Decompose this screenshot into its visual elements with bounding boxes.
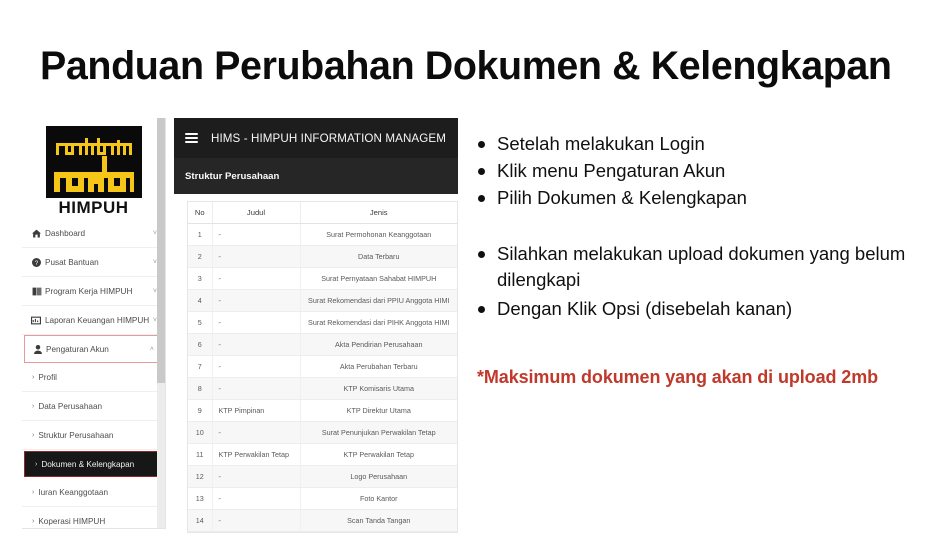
cell-judul: - (212, 466, 300, 488)
sidebar-subitem-label: Struktur Perusahaan (38, 431, 113, 440)
book-icon (31, 287, 42, 296)
cell-no: 2 (188, 246, 212, 268)
sidebar-subitem-iuran-keanggotaan[interactable]: › Iuran Keanggotaan (22, 478, 165, 507)
table-row[interactable]: 8-KTP Komisaris Utama (188, 378, 457, 400)
page-heading-bar: Struktur Perusahaan (174, 158, 458, 194)
documents-table: No Judul Jenis 1-Surat Permohonan Keangg… (188, 202, 457, 532)
cell-no: 5 (188, 312, 212, 334)
sidebar-subitem-struktur-perusahaan[interactable]: › Struktur Perusahaan (22, 421, 165, 450)
cell-jenis: KTP Komisaris Utama (300, 378, 457, 400)
cell-no: 9 (188, 400, 212, 422)
himpuh-calligraphy-icon (46, 126, 142, 198)
instructions-list-2: Silahkan melakukan upload dokumen yang b… (472, 241, 934, 322)
sidebar: HIMPUH Dashboard ˅ ? Pusat Bantuan ˅ (22, 118, 166, 529)
cell-judul: - (212, 510, 300, 532)
cell-no: 12 (188, 466, 212, 488)
sidebar-item-label: Laporan Keuangan HIMPUH (45, 316, 149, 325)
table-row[interactable]: 3-Surat Pernyataan Sahabat HIMPUH (188, 268, 457, 290)
page-heading: Struktur Perusahaan (185, 171, 279, 182)
chevron-right-icon: › (32, 518, 34, 525)
sidebar-item-label: Program Kerja HIMPUH (45, 287, 149, 296)
report-icon (31, 316, 42, 325)
documents-card: No Judul Jenis 1-Surat Permohonan Keangg… (187, 201, 458, 533)
slide-canvas: Panduan Perubahan Dokumen & Kelengkapan (0, 0, 949, 549)
cell-no: 1 (188, 224, 212, 246)
sidebar-scrollbar[interactable] (157, 118, 165, 529)
question-circle-icon: ? (31, 258, 42, 267)
cell-no: 4 (188, 290, 212, 312)
cell-no: 3 (188, 268, 212, 290)
cell-jenis: Surat Permohonan Keanggotaan (300, 224, 457, 246)
column-header-jenis[interactable]: Jenis (300, 202, 457, 224)
sidebar-item-label: Dashboard (45, 229, 149, 238)
cell-jenis: Surat Penunjukan Perwakilan Tetap (300, 422, 457, 444)
cell-judul: - (212, 268, 300, 290)
cell-jenis: Logo Perusahaan (300, 466, 457, 488)
cell-jenis: KTP Direktur Utama (300, 400, 457, 422)
cell-judul: - (212, 378, 300, 400)
app-topbar: HIMS - HIMPUH INFORMATION MANAGEM (174, 118, 458, 158)
brand-logo: HIMPUH (46, 126, 142, 217)
cell-judul: - (212, 312, 300, 334)
table-row[interactable]: 12-Logo Perusahaan (188, 466, 457, 488)
app-screenshot: HIMPUH Dashboard ˅ ? Pusat Bantuan ˅ (22, 118, 458, 549)
cell-jenis: Akta Perubahan Terbaru (300, 356, 457, 378)
chevron-right-icon: › (32, 374, 34, 381)
cell-jenis: KTP Perwakilan Tetap (300, 444, 457, 466)
sidebar-item-program-kerja[interactable]: Program Kerja HIMPUH ˅ (22, 277, 165, 306)
cell-jenis: Foto Kantor (300, 488, 457, 510)
table-row[interactable]: 14-Scan Tanda Tangan (188, 510, 457, 532)
sidebar-subitem-dokumen-kelengkapan[interactable]: › Dokumen & Kelengkapan (24, 451, 163, 477)
sidebar-item-pusat-bantuan[interactable]: ? Pusat Bantuan ˅ (22, 248, 165, 277)
cell-jenis: Akta Pendirian Perusahaan (300, 334, 457, 356)
cell-no: 8 (188, 378, 212, 400)
cell-no: 13 (188, 488, 212, 510)
main-panel: HIMS - HIMPUH INFORMATION MANAGEM Strukt… (174, 118, 458, 549)
page-title: Panduan Perubahan Dokumen & Kelengkapan (40, 44, 917, 89)
cell-jenis: Surat Rekomendasi dari PIHK Anggota HIMI (300, 312, 457, 334)
cell-jenis: Surat Rekomendasi dari PPIU Anggota HIMI (300, 290, 457, 312)
list-item: Pilih Dokumen & Kelengkapan (472, 185, 934, 211)
chevron-right-icon: › (32, 489, 34, 496)
table-row[interactable]: 11KTP Perwakilan TetapKTP Perwakilan Tet… (188, 444, 457, 466)
table-row[interactable]: 1-Surat Permohonan Keanggotaan (188, 224, 457, 246)
sidebar-subitem-label: Profil (38, 373, 57, 382)
cell-no: 10 (188, 422, 212, 444)
table-row[interactable]: 10-Surat Penunjukan Perwakilan Tetap (188, 422, 457, 444)
instructions-panel: Setelah melakukan Login Klik menu Pengat… (472, 131, 934, 325)
user-icon (32, 345, 43, 354)
svg-text:?: ? (35, 259, 39, 266)
cell-judul: KTP Perwakilan Tetap (212, 444, 300, 466)
sidebar-subitem-data-perusahaan[interactable]: › Data Perusahaan (22, 392, 165, 421)
sidebar-subitem-koperasi-himpuh[interactable]: › Koperasi HIMPUH (22, 507, 165, 529)
sidebar-item-label: Pusat Bantuan (45, 258, 149, 267)
sidebar-subitem-label: Koperasi HIMPUH (38, 517, 105, 526)
chevron-up-icon: ˄ (150, 346, 154, 353)
hamburger-icon[interactable] (185, 130, 198, 146)
cell-no: 11 (188, 444, 212, 466)
list-item: Klik menu Pengaturan Akun (472, 158, 934, 184)
table-row[interactable]: 13-Foto Kantor (188, 488, 457, 510)
column-header-no[interactable]: No (188, 202, 212, 224)
cell-judul: - (212, 246, 300, 268)
cell-judul: KTP Pimpinan (212, 400, 300, 422)
sidebar-subitem-label: Iuran Keanggotaan (38, 488, 108, 497)
sidebar-subitem-label: Data Perusahaan (38, 402, 102, 411)
cell-no: 6 (188, 334, 212, 356)
table-row[interactable]: 2-Data Terbaru (188, 246, 457, 268)
list-item: Setelah melakukan Login (472, 131, 934, 157)
sidebar-item-label: Pengaturan Akun (46, 345, 146, 354)
cell-no: 14 (188, 510, 212, 532)
cell-judul: - (212, 290, 300, 312)
table-header-row: No Judul Jenis (188, 202, 457, 224)
cell-judul: - (212, 334, 300, 356)
chevron-right-icon: › (32, 432, 34, 439)
column-header-judul[interactable]: Judul (212, 202, 300, 224)
table-row[interactable]: 6-Akta Pendirian Perusahaan (188, 334, 457, 356)
table-row[interactable]: 9KTP PimpinanKTP Direktur Utama (188, 400, 457, 422)
list-item: Dengan Klik Opsi (disebelah kanan) (472, 296, 934, 322)
cell-judul: - (212, 488, 300, 510)
sidebar-subitem-label: Dokumen & Kelengkapan (41, 460, 134, 469)
chevron-right-icon: › (32, 403, 34, 410)
instructions-list-1: Setelah melakukan Login Klik menu Pengat… (472, 131, 934, 211)
home-icon (31, 229, 42, 238)
upload-size-note: *Maksimum dokumen yang akan di upload 2m… (477, 367, 937, 388)
sidebar-item-pengaturan-akun[interactable]: Pengaturan Akun ˄ (24, 335, 163, 363)
app-title: HIMS - HIMPUH INFORMATION MANAGEM (211, 132, 446, 145)
list-item: Silahkan melakukan upload dokumen yang b… (472, 241, 934, 293)
cell-jenis: Surat Pernyataan Sahabat HIMPUH (300, 268, 457, 290)
cell-judul: - (212, 422, 300, 444)
sidebar-scrollbar-thumb[interactable] (157, 118, 165, 383)
cell-no: 7 (188, 356, 212, 378)
cell-jenis: Data Terbaru (300, 246, 457, 268)
chevron-right-icon: › (35, 461, 37, 468)
cell-judul: - (212, 224, 300, 246)
sidebar-item-dashboard[interactable]: Dashboard ˅ (22, 219, 165, 248)
cell-jenis: Scan Tanda Tangan (300, 510, 457, 532)
cell-judul: - (212, 356, 300, 378)
table-row[interactable]: 7-Akta Perubahan Terbaru (188, 356, 457, 378)
sidebar-subitem-profil[interactable]: › Profil (22, 363, 165, 392)
table-row[interactable]: 5-Surat Rekomendasi dari PIHK Anggota HI… (188, 312, 457, 334)
table-row[interactable]: 4-Surat Rekomendasi dari PPIU Anggota HI… (188, 290, 457, 312)
sidebar-item-laporan-keuangan[interactable]: Laporan Keuangan HIMPUH ˅ (22, 306, 165, 335)
brand-wordmark: HIMPUH (46, 199, 142, 217)
